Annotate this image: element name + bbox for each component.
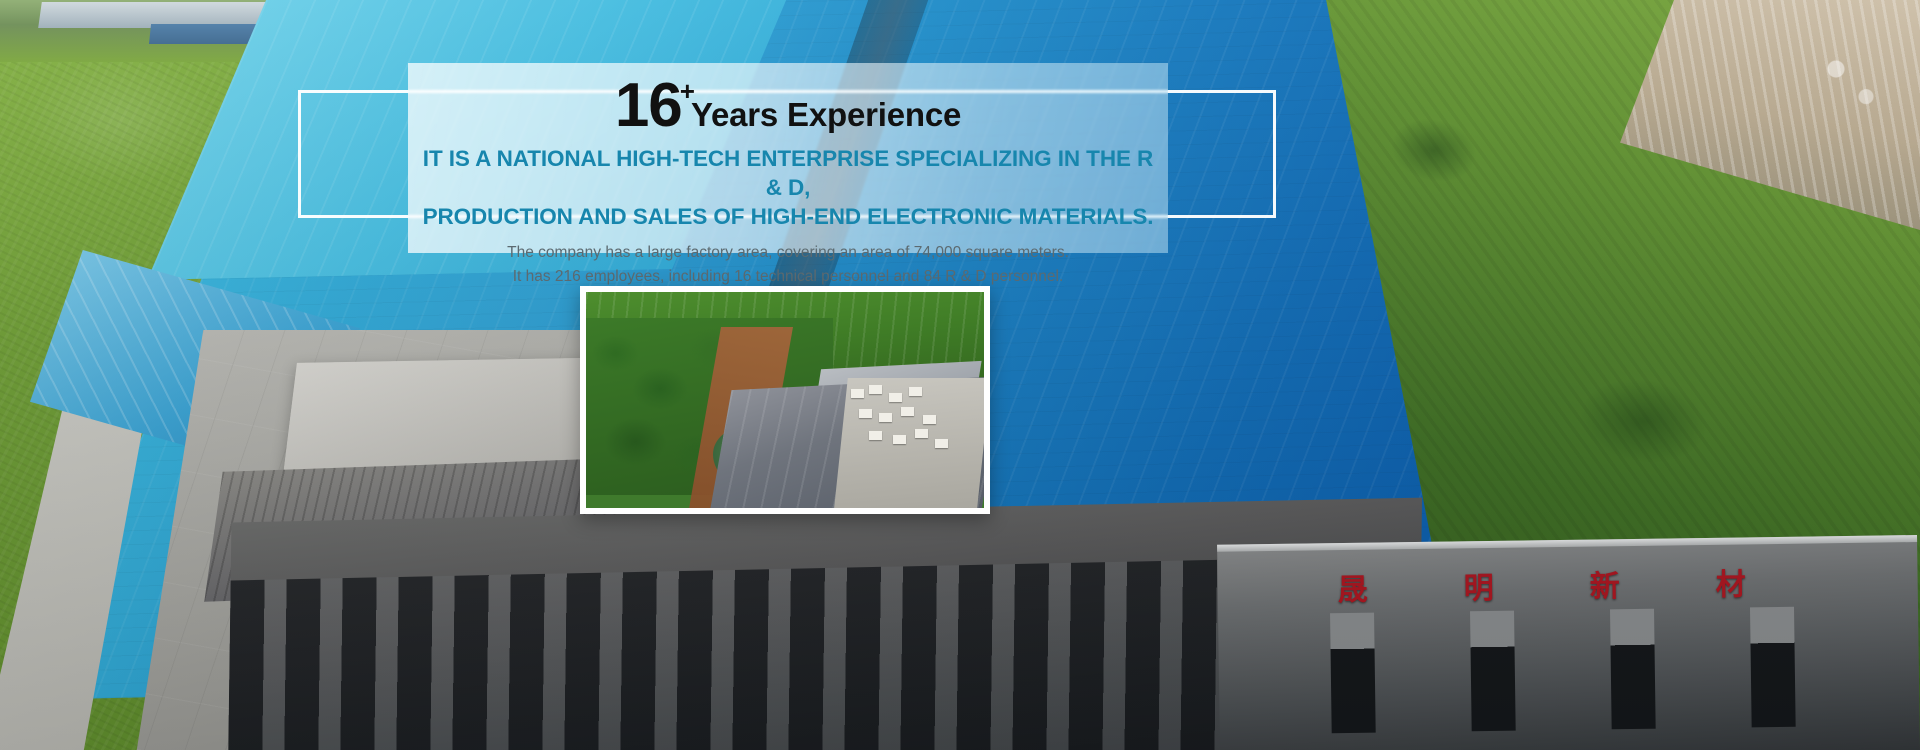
hero-banner: 晟 明 新 材 16+Years Experience IT IS A NATI… xyxy=(0,0,1920,750)
chinese-signage: 晟 明 新 材 xyxy=(1337,559,1746,609)
subheadline-line-1: IT IS A NATIONAL HIGH-TECH ENTERPRISE SP… xyxy=(414,145,1162,203)
text-overlay-panel: 16+Years Experience IT IS A NATIONAL HIG… xyxy=(408,63,1168,253)
sign-char-1: 晟 xyxy=(1337,565,1368,609)
inset-aerial-photo xyxy=(586,292,984,508)
years-label: Years Experience xyxy=(691,96,961,133)
description: The company has a large factory area, co… xyxy=(408,241,1168,288)
inset-photo-card xyxy=(580,286,990,514)
years-number: 16 xyxy=(615,71,682,140)
sign-char-3: 新 xyxy=(1589,561,1620,605)
description-line-2: It has 216 employees, including 16 techn… xyxy=(408,265,1168,289)
headline: 16+Years Experience xyxy=(408,75,1168,137)
description-line-1: The company has a large factory area, co… xyxy=(408,241,1168,265)
wall-windows xyxy=(1330,606,1880,744)
sign-char-4: 材 xyxy=(1715,559,1746,603)
subheadline-line-2: PRODUCTION AND SALES OF HIGH-END ELECTRO… xyxy=(414,203,1162,232)
sign-char-2: 明 xyxy=(1463,563,1494,607)
signage-wall: 晟 明 新 材 xyxy=(1217,535,1920,750)
inset-pallet-stacks xyxy=(845,383,980,504)
subheadline: IT IS A NATIONAL HIGH-TECH ENTERPRISE SP… xyxy=(408,145,1168,231)
